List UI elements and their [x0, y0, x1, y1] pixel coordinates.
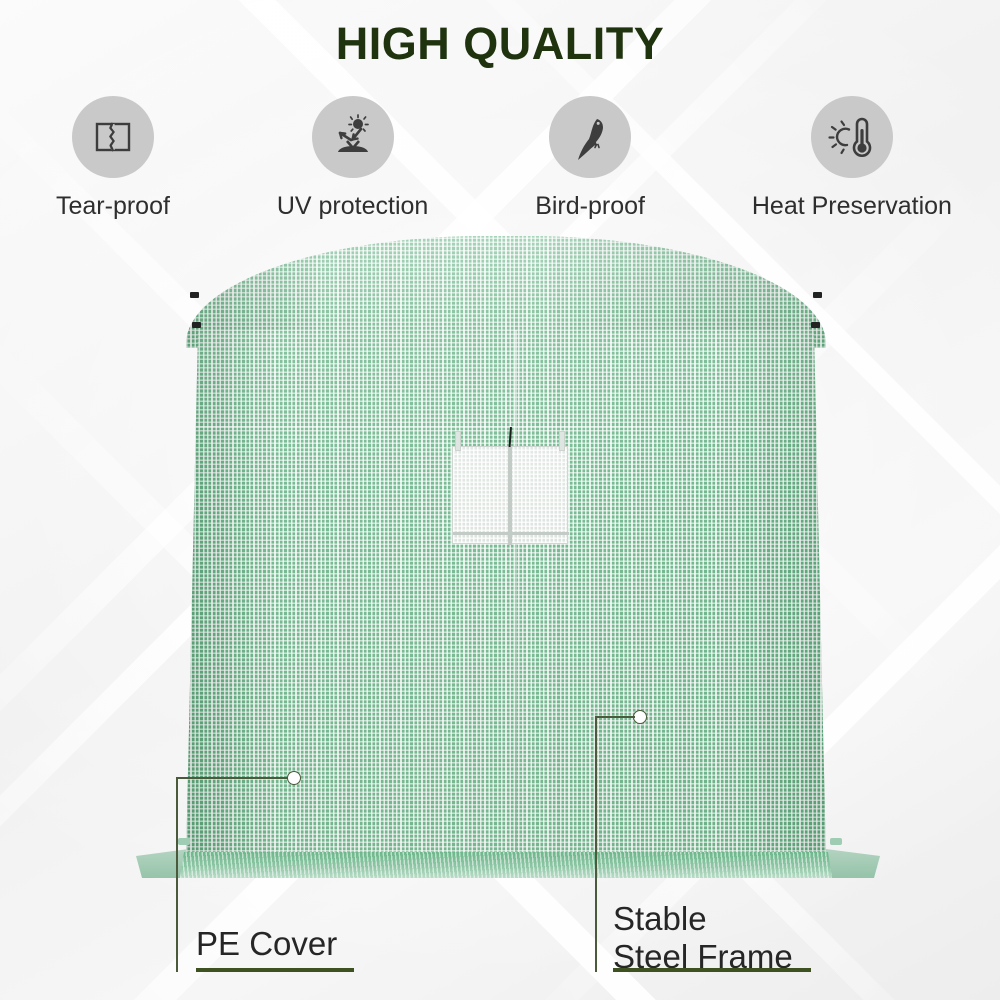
callout-dot [633, 710, 647, 724]
frame-clip-icon [190, 292, 199, 298]
frame-clip-icon [192, 322, 201, 328]
panel-crease [186, 426, 826, 428]
panel-shading [186, 330, 826, 860]
zipper-seam [515, 330, 517, 860]
window-center-bar [508, 447, 512, 545]
callout-underline [613, 968, 811, 972]
window-rail-right [559, 431, 565, 451]
callout-dot [287, 771, 301, 785]
window-rail-left [455, 431, 461, 451]
greenhouse-base-rail [180, 852, 832, 878]
greenhouse-front-panel [186, 330, 826, 860]
mesh-window[interactable] [452, 446, 568, 544]
callout-underline [196, 968, 354, 972]
callout-leader-horizontal [595, 716, 635, 718]
callout-leader-vertical [595, 716, 597, 972]
callout-leader-horizontal [176, 777, 288, 779]
callout-leader-vertical [176, 777, 178, 972]
frame-foot-icon [178, 838, 190, 845]
callout-label: Stable Steel Frame [613, 900, 793, 976]
product-feature-image: HIGH QUALITY Tear-proof [0, 0, 1000, 1000]
frame-clip-icon [811, 322, 820, 328]
callout-label: PE Cover [196, 925, 337, 963]
frame-foot-icon [830, 838, 842, 845]
greenhouse-product-photo [0, 0, 1000, 1000]
frame-clip-icon [813, 292, 822, 298]
window-bottom-bar [453, 532, 569, 535]
